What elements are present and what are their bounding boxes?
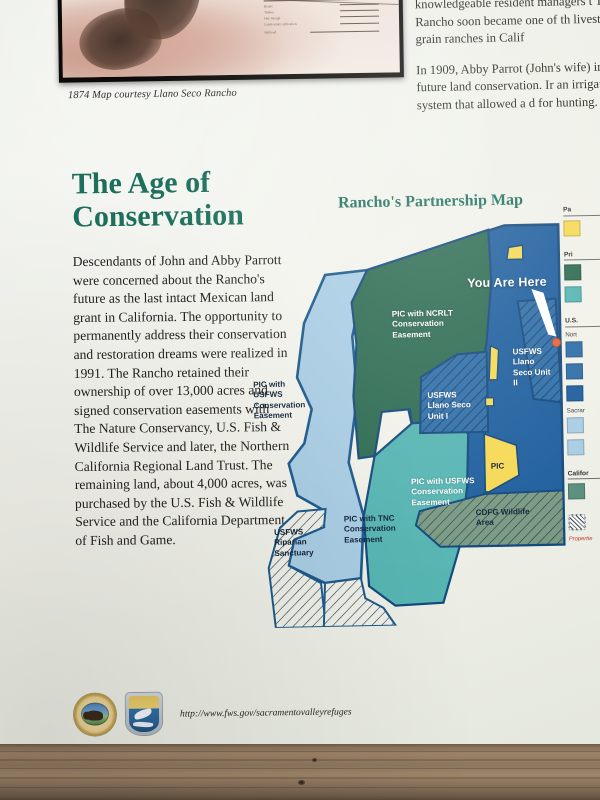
map-legend: Pa Pri U.S. Nort Sacrar Califor Properti…	[563, 206, 600, 543]
legend-row-hatch	[568, 513, 600, 530]
map-region-pic-inholding-strip	[488, 346, 499, 380]
top-body-copy: knowledgeable resident managers t The Ra…	[415, 0, 600, 127]
legend-swatch-hatch	[568, 514, 585, 530]
footer-url: http://www.fws.gov/sacramentovalleyrefug…	[180, 706, 352, 719]
you-are-here-marker	[552, 338, 561, 347]
fws-seal-icon	[126, 693, 163, 735]
legend-swatch	[566, 385, 583, 401]
map-region-pic-inholding-north	[507, 245, 523, 259]
historic-map-legend-row: Railroad	[264, 29, 379, 35]
historic-map-legend-row: Roads	[264, 2, 379, 8]
legend-heading-parks: Pa	[563, 206, 600, 216]
legend-row	[564, 286, 600, 303]
historic-map-image: Explanations Roads Timber Hay Slough Lan…	[61, 0, 400, 78]
legend-row	[565, 340, 600, 357]
legend-swatch	[564, 264, 581, 280]
legend-dash	[340, 10, 379, 12]
legend-row	[567, 438, 600, 455]
legend-subheading-sacramento: Sacrar	[567, 406, 600, 414]
legend-swatch	[566, 363, 583, 379]
legend-spacer	[568, 504, 600, 514]
doi-seal-icon	[74, 693, 117, 736]
legend-row	[567, 416, 600, 433]
top-paragraph-2: In 1909, Abby Parrot (John's wife) in st…	[416, 57, 600, 114]
rail-grain-line	[0, 777, 600, 779]
historic-map-photo: Explanations Roads Timber Hay Slough Lan…	[57, 0, 404, 83]
rail-grain-line	[0, 787, 600, 788]
page-title: The Age of Conservation	[72, 164, 323, 233]
historic-map-legend-title: Explanations	[264, 0, 379, 1]
legend-row	[566, 362, 600, 379]
rail-grain-line	[0, 759, 600, 761]
doi-seal-bison	[86, 710, 103, 720]
legend-dash	[340, 16, 379, 18]
legend-row	[563, 219, 600, 236]
historic-map-legend: Explanations Roads Timber Hay Slough Lan…	[264, 0, 379, 37]
legend-heading-usfws: U.S.	[565, 317, 600, 327]
legend-row	[568, 482, 600, 499]
legend-swatch	[565, 341, 582, 357]
you-are-here-label: You Are Here	[467, 275, 547, 291]
rail-knot	[298, 780, 305, 785]
historic-map-legend-row: Timber	[264, 8, 379, 14]
top-paragraph-1: knowledgeable resident managers t The Ra…	[415, 0, 600, 49]
historic-map-legend-row: Hay Slough	[264, 15, 379, 21]
rail-grain-line	[0, 751, 600, 752]
partnership-map: You Are Here PIC with NCRLT Conservation…	[258, 222, 596, 628]
map-region-pic-inholding-dot	[485, 398, 493, 406]
legend-row	[566, 384, 600, 401]
historic-map-legend-row: Lands under cultivation	[264, 21, 379, 27]
footer: http://www.fws.gov/sacramentovalleyrefug…	[74, 688, 375, 738]
legend-swatch	[563, 220, 580, 236]
legend-dash	[340, 22, 379, 24]
legend-swatch	[568, 483, 585, 499]
rail-knot	[312, 758, 317, 762]
map-title: Rancho's Partnership Map	[338, 190, 528, 212]
legend-heading-private: Pri	[564, 250, 600, 260]
legend-note: Propertie	[569, 535, 600, 542]
legend-swatch	[567, 439, 584, 455]
wooden-rail	[0, 744, 600, 800]
legend-heading-california: Califor	[568, 469, 600, 479]
interpretive-sign-panel: Explanations Roads Timber Hay Slough Lan…	[0, 0, 600, 752]
historic-map-caption: 1874 Map courtesy Llano Seco Rancho	[68, 88, 237, 101]
legend-spacer	[568, 460, 600, 470]
legend-subheading-north: Nort	[565, 330, 600, 338]
legend-swatch	[567, 417, 584, 433]
rail-grain-line	[0, 768, 600, 769]
legend-dash	[340, 4, 379, 6]
legend-row	[564, 264, 600, 281]
legend-dash	[310, 30, 379, 32]
legend-swatch	[564, 286, 581, 302]
